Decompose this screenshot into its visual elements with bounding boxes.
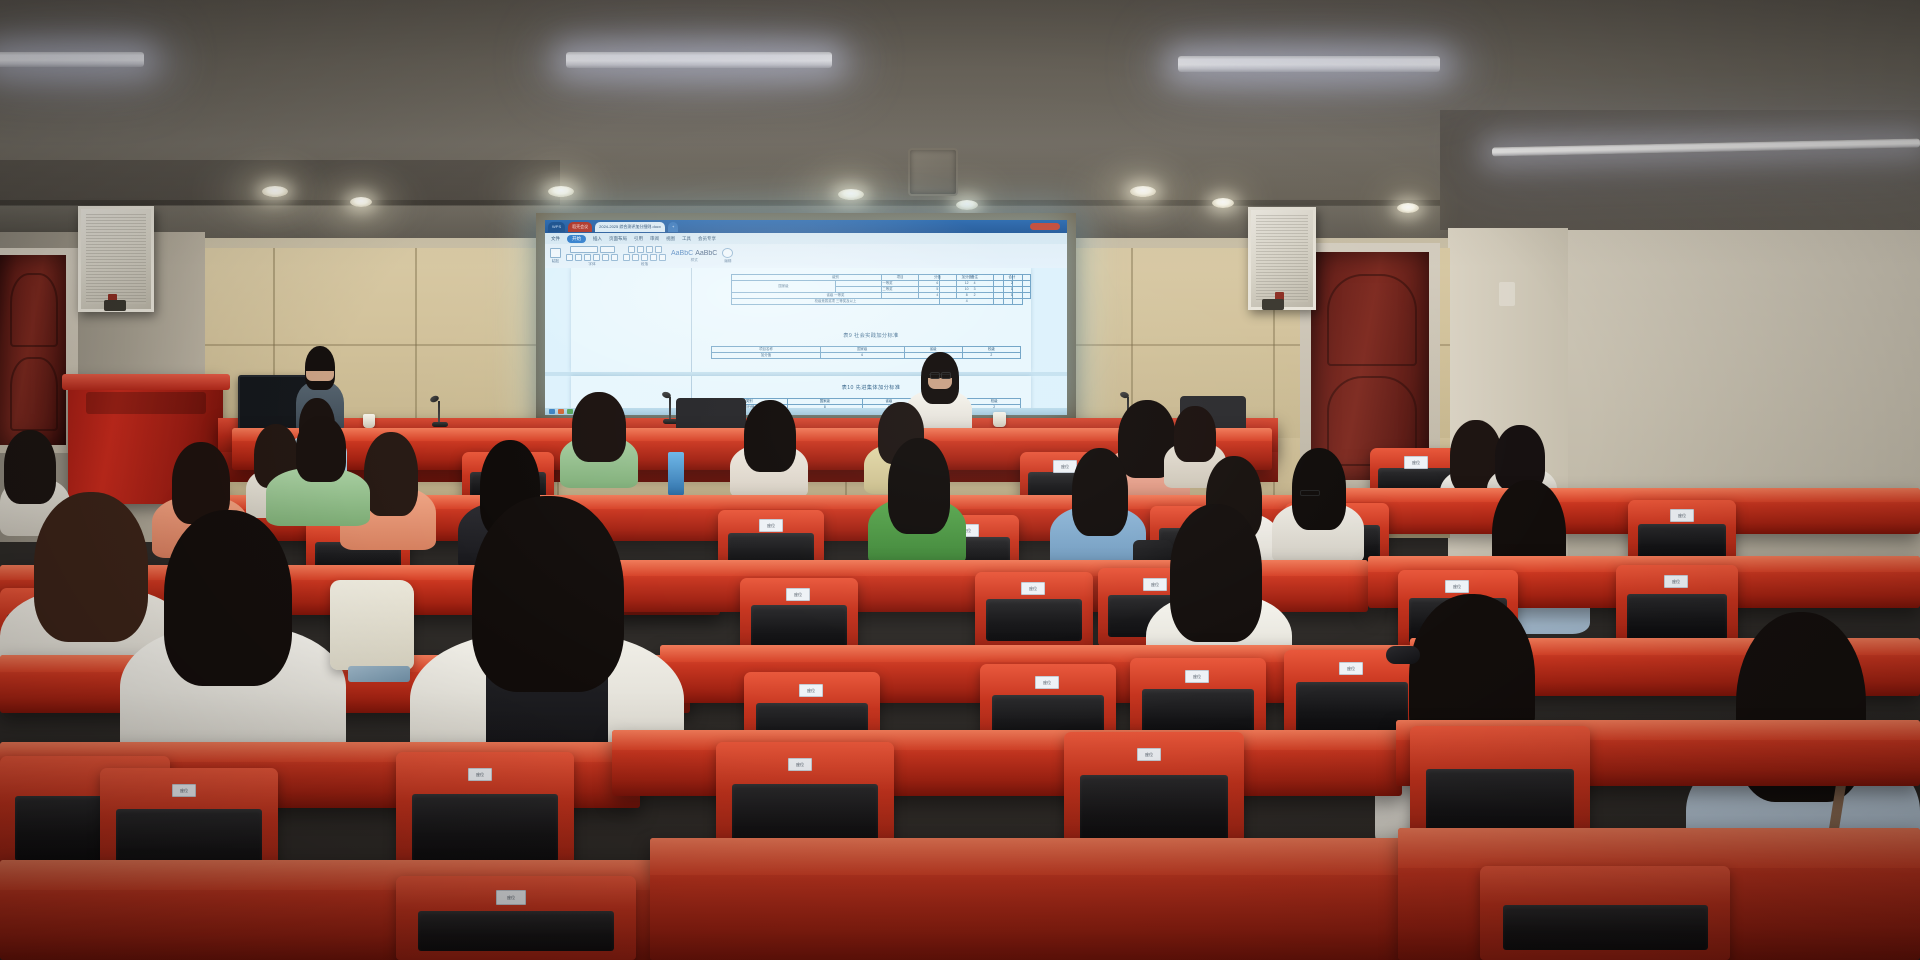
chair-tag: 座位 (1035, 676, 1059, 689)
chair-tag: 座位 (1404, 456, 1428, 469)
speaker-grille-right (1256, 215, 1308, 302)
chair-tag: 座位 (788, 758, 812, 771)
cell: 4 (939, 299, 993, 305)
speaker-grille-left (86, 214, 146, 304)
font-row-2 (566, 254, 618, 261)
chair-tag: 座位 (1339, 662, 1363, 675)
align-left-icon[interactable] (623, 254, 630, 261)
speaker-mount-right (1262, 299, 1284, 310)
align-right-icon[interactable] (641, 254, 648, 261)
font-color-icon[interactable] (611, 254, 618, 261)
wps-logo-tab[interactable]: WPS (548, 222, 565, 232)
chair-r5-c2[interactable]: 座位 (396, 752, 574, 876)
home-tab[interactable]: 稻壳会议 (568, 222, 592, 232)
chair-tag: 座位 (496, 890, 526, 905)
paragraph-label: 段落 (641, 262, 648, 267)
style-chip-0[interactable]: AaBbC (671, 250, 693, 257)
ribbon-tab-3[interactable]: 页面布局 (609, 236, 627, 242)
cell: 6 (820, 353, 904, 359)
new-tab-button[interactable]: + (668, 222, 678, 232)
social-practice-table: 项目名称 国家级 省级 校级 加分值 6 4 2 (711, 346, 1021, 359)
right-score-table: 项目 分值 备注 合计 6 4 2 5 3 (881, 274, 1031, 299)
bold-icon[interactable] (566, 254, 573, 261)
vip-badge[interactable] (1030, 223, 1060, 230)
podium-top (62, 374, 230, 390)
ribbon-tab-1[interactable]: 开始 (567, 235, 586, 243)
account-name[interactable] (1063, 224, 1064, 229)
cell: 加分值 (712, 353, 821, 359)
paste-icon[interactable] (550, 248, 561, 258)
ribbon-tab-8[interactable]: 会员专享 (698, 236, 716, 242)
cell: 国家级 (732, 281, 836, 293)
lecture-hall-photo: WPS 稻壳会议 2024-2025 综合测评加分细则.docx + 文件 开始… (0, 0, 1920, 960)
computer-mouse[interactable] (1386, 646, 1420, 664)
table-row: 4 2 1 (882, 293, 1031, 299)
wall-speaker-right (1248, 207, 1316, 310)
borders-icon[interactable] (659, 254, 666, 261)
chair-tag: 座位 (1445, 580, 1469, 593)
font-size-select[interactable] (600, 246, 615, 253)
attendee-row4-a (120, 510, 346, 760)
cell: 1 (993, 293, 1030, 299)
style-chip-row: AaBbC AaBbC (671, 250, 717, 257)
font-label: 字体 (588, 262, 595, 267)
paste-label: 粘贴 (552, 259, 559, 264)
cell (1003, 299, 1013, 305)
chair-tag: 座位 (786, 588, 810, 601)
underline-icon[interactable] (584, 254, 591, 261)
ribbon-tab-0[interactable]: 文件 (551, 236, 560, 242)
downlight-1 (262, 186, 288, 197)
font-row-1 (570, 246, 615, 253)
indent-icon[interactable] (646, 246, 653, 253)
ribbon-tab-2[interactable]: 插入 (593, 236, 602, 242)
cell: 4 (919, 293, 956, 299)
attendee-row2-g (1050, 448, 1146, 564)
chair-r3-c2[interactable]: 座位 (975, 572, 1093, 650)
ribbon-group-editing[interactable]: 编辑 (722, 248, 733, 264)
chair-r6-c2[interactable] (1480, 866, 1730, 960)
tube-glow-right (1150, 42, 1476, 90)
styles-label: 样式 (691, 258, 698, 263)
line-spacing-icon[interactable] (655, 246, 662, 253)
table-row: 加分值 6 4 2 (712, 353, 1021, 359)
editing-label: 编辑 (724, 259, 731, 264)
chair-tag: 座位 (759, 519, 783, 532)
attendee-row1-b (560, 392, 638, 482)
ribbon-group-styles[interactable]: AaBbC AaBbC 样式 (671, 250, 717, 263)
ribbon-tab-5[interactable]: 审阅 (650, 236, 659, 242)
para-row-2 (623, 254, 666, 261)
ribbon-group-paste[interactable]: 粘贴 (550, 248, 561, 264)
chair-tag: 座位 (799, 684, 823, 697)
wall-speaker-left (78, 206, 154, 312)
cell: 2 (956, 293, 993, 299)
door-right[interactable] (1311, 252, 1429, 480)
find-icon[interactable] (722, 248, 733, 258)
tote-bag (330, 580, 414, 670)
downlight-8 (1397, 203, 1419, 213)
social-practice-caption: 表9 社会实践加分标准 (721, 332, 1021, 339)
attendee-row2-d (266, 416, 370, 520)
align-center-icon[interactable] (632, 254, 639, 261)
chair-tag: 座位 (1664, 575, 1688, 588)
number-list-icon[interactable] (637, 246, 644, 253)
tube-glow-center (536, 38, 866, 86)
taskbar-icon-1[interactable] (549, 409, 555, 414)
microphone-left (430, 396, 450, 428)
ribbon-group-paragraph[interactable]: 段落 (623, 246, 666, 267)
document-tab[interactable]: 2024-2025 综合测评加分细则.docx (595, 222, 665, 232)
downlight-3 (548, 186, 574, 197)
ribbon-tab-7[interactable]: 工具 (682, 236, 691, 242)
paper-cup-right (993, 412, 1006, 427)
chair-tag: 座位 (1670, 509, 1694, 522)
downlight-7 (1212, 198, 1234, 208)
attendee-row2-f (868, 438, 966, 560)
bullet-list-icon[interactable] (628, 246, 635, 253)
ribbon-tab-4[interactable]: 引用 (634, 236, 643, 242)
strikethrough-icon[interactable] (593, 254, 600, 261)
chair-r6-c1[interactable]: 座位 (396, 876, 636, 960)
collective-bonus-caption: 表10 先进集体加分标准 (721, 384, 1021, 391)
glasses-icon (1300, 490, 1320, 496)
ribbon: 粘贴 字体 (545, 244, 1067, 269)
downlight-6 (1130, 186, 1156, 197)
cell (882, 293, 919, 299)
door-left[interactable] (0, 255, 66, 445)
podium-recess (86, 392, 206, 414)
chair-tag: 座位 (468, 768, 492, 781)
attendee-row1-c (730, 400, 808, 492)
ceiling-right-return (1440, 110, 1920, 230)
projection-screen: WPS 稻壳会议 2024-2025 综合测评加分细则.docx + 文件 开始… (545, 220, 1067, 415)
ceiling-vent (908, 148, 958, 196)
italic-icon[interactable] (575, 254, 582, 261)
justify-icon[interactable] (650, 254, 657, 261)
para-row-1 (628, 246, 662, 253)
downlight-2 (350, 197, 372, 207)
chair-tag: 座位 (1021, 582, 1045, 595)
table-row: 校级竞赛奖项 三等奖及以上 4 (732, 299, 1023, 305)
downlight-4 (838, 189, 864, 200)
chair-tag: 座位 (1137, 748, 1161, 761)
chair-tag: 座位 (172, 784, 196, 797)
cell: 校级竞赛奖项 三等奖及以上 (732, 299, 940, 305)
water-bottle (668, 452, 684, 496)
phone (348, 666, 410, 682)
highlight-icon[interactable] (602, 254, 609, 261)
chair-tag: 座位 (1185, 670, 1209, 683)
bench-row-6[interactable] (650, 838, 1410, 960)
wall-switch-plate[interactable] (1499, 282, 1515, 306)
font-family-select[interactable] (570, 246, 598, 253)
cell (1013, 299, 1023, 305)
style-chip-1[interactable]: AaBbC (695, 250, 717, 257)
bench-row-2-right[interactable] (1310, 488, 1920, 534)
ribbon-tab-strip: 文件 开始 插入 页面布局 引用 审阅 视图 工具 会员专享 (545, 233, 1067, 244)
wps-titlebar: WPS 稻壳会议 2024-2025 综合测评加分细则.docx + (545, 220, 1067, 233)
speaker-mount-left (104, 300, 126, 311)
ribbon-tab-6[interactable]: 视图 (666, 236, 675, 242)
cell (994, 299, 1004, 305)
ribbon-group-font[interactable]: 字体 (566, 246, 618, 267)
